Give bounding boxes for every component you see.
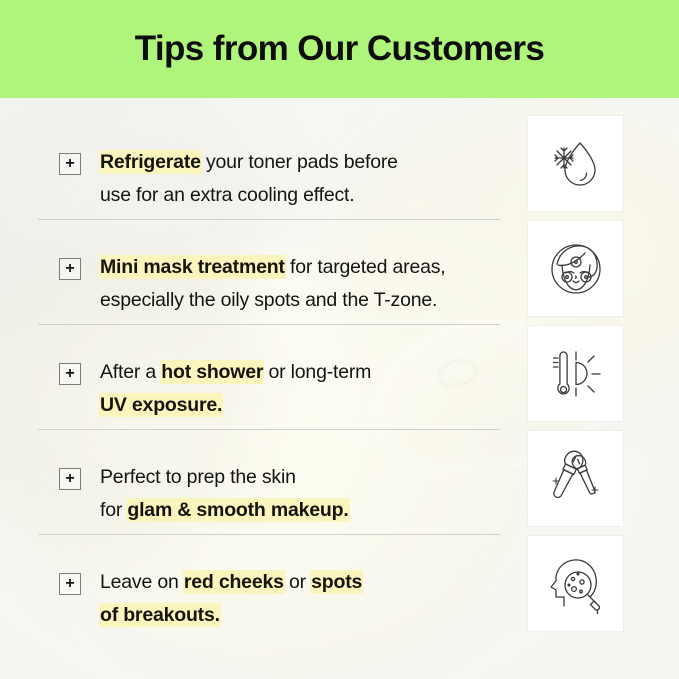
head-magnifier-blemish-icon — [544, 552, 608, 616]
row-divider — [38, 429, 500, 430]
highlighted-phrase: UV exposure. — [100, 394, 222, 416]
page-title: Tips from Our Customers — [135, 29, 545, 69]
tip-text-line: Refrigerate your toner pads before — [100, 146, 500, 179]
row-divider — [38, 324, 500, 325]
tip-text-line: Mini mask treatment for targeted areas, — [100, 251, 500, 284]
plain-phrase: or — [284, 571, 311, 593]
plain-phrase: Leave on — [100, 571, 184, 593]
icon-tile — [528, 116, 623, 211]
tip-text-line: of breakouts. — [100, 599, 500, 632]
row-divider — [38, 219, 500, 220]
tip-text-line: Leave on red cheeks or spots — [100, 566, 500, 599]
thermometer-sun-icon — [545, 343, 607, 405]
highlighted-phrase: of breakouts. — [100, 604, 220, 626]
row-divider — [38, 534, 500, 535]
tip-text-line: use for an extra cooling effect. — [100, 179, 500, 212]
tip-text-line: for glam & smooth makeup. — [100, 494, 500, 527]
expand-plus-button[interactable]: + — [59, 573, 81, 595]
highlighted-phrase: glam & smooth makeup. — [127, 499, 348, 521]
tip-text: Leave on red cheeks or spotsof breakouts… — [100, 566, 500, 632]
plain-phrase: for targeted areas, — [285, 256, 446, 278]
tip-text-line: Perfect to prep the skin — [100, 461, 500, 494]
expand-plus-button[interactable]: + — [59, 153, 81, 175]
face-mask-patches-icon — [544, 237, 608, 301]
makeup-brushes-icon — [545, 448, 607, 510]
plain-phrase: use for an extra cooling effect. — [100, 184, 354, 206]
tips-infographic-card: Tips from Our Customers + Refrigerate yo… — [0, 0, 679, 679]
tip-text-line: especially the oily spots and the T-zone… — [100, 284, 500, 317]
tip-text: Mini mask treatment for targeted areas,e… — [100, 251, 500, 317]
header-banner: Tips from Our Customers — [0, 0, 679, 98]
tip-text: After a hot shower or long-termUV exposu… — [100, 356, 500, 422]
highlighted-phrase: Mini mask treatment — [100, 256, 285, 278]
tip-text-line: After a hot shower or long-term — [100, 356, 500, 389]
tip-text: Perfect to prep the skinfor glam & smoot… — [100, 461, 500, 527]
icon-tile — [528, 326, 623, 421]
icon-tile — [528, 431, 623, 526]
expand-plus-button[interactable]: + — [59, 363, 81, 385]
cold-water-drop-icon — [545, 133, 607, 195]
highlighted-phrase: spots — [311, 571, 362, 593]
highlighted-phrase: hot shower — [161, 361, 263, 383]
icon-tile — [528, 221, 623, 316]
plain-phrase: for — [100, 499, 127, 521]
tip-text: Refrigerate your toner pads beforeuse fo… — [100, 146, 500, 212]
expand-plus-button[interactable]: + — [59, 468, 81, 490]
plain-phrase: or long-term — [263, 361, 371, 383]
expand-plus-button[interactable]: + — [59, 258, 81, 280]
highlighted-phrase: Refrigerate — [100, 151, 201, 173]
highlighted-phrase: red cheeks — [184, 571, 284, 593]
plain-phrase: your toner pads before — [201, 151, 398, 173]
plain-phrase: After a — [100, 361, 161, 383]
tip-text-line: UV exposure. — [100, 389, 500, 422]
plain-phrase: Perfect to prep the skin — [100, 466, 296, 488]
plain-phrase: especially the oily spots and the T-zone… — [100, 289, 437, 311]
icon-tile — [528, 536, 623, 631]
